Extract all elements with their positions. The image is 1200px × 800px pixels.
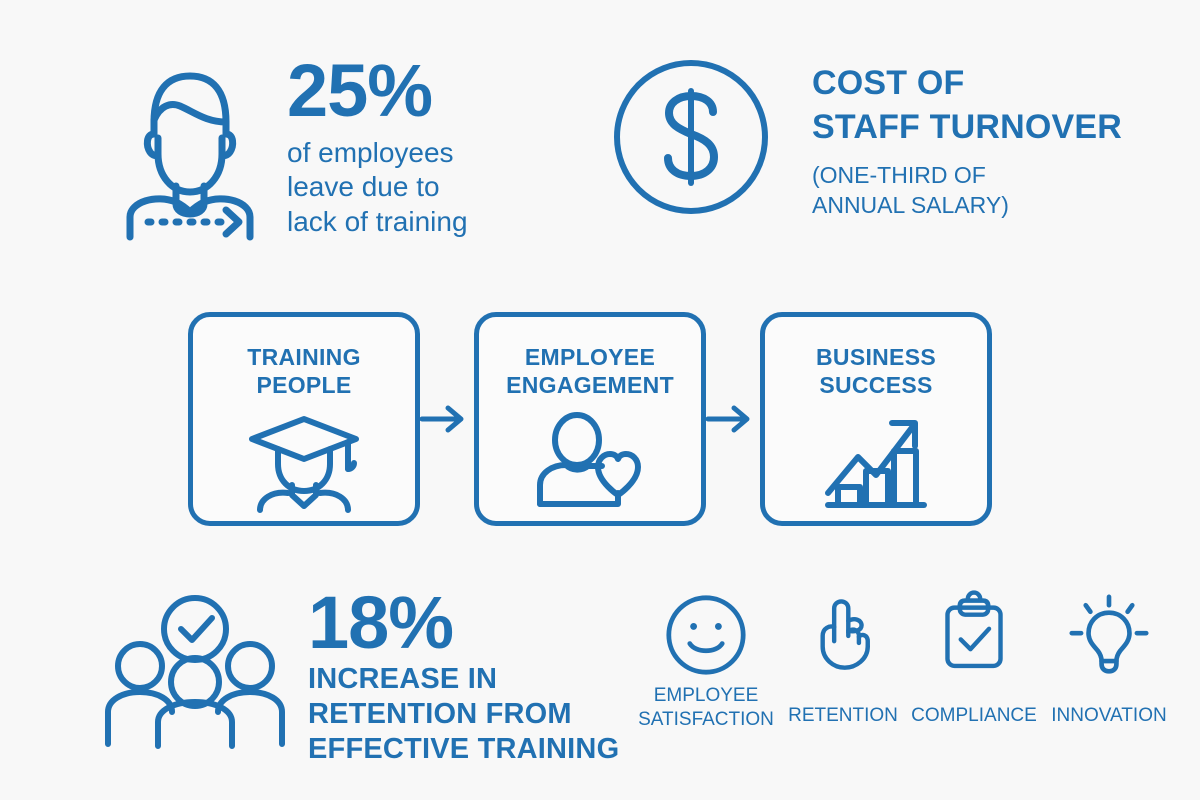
stat-employee-leave-description: of employees leave due to lack of traini… [287, 136, 468, 238]
stat-employee-leave-text: 25% of employees leave due to lack of tr… [287, 56, 468, 239]
flow-step-employee-engagement[interactable]: EMPLOYEE ENGAGEMENT [474, 312, 706, 526]
arrow-right-icon-1 [420, 399, 474, 439]
person-leaving-icon [108, 62, 273, 237]
stat-turnover-cost: COST OF STAFF TURNOVER (ONE-THIRD OF ANN… [612, 52, 1172, 252]
stat-turnover-cost-text: COST OF STAFF TURNOVER (ONE-THIRD OF ANN… [812, 52, 1122, 221]
benefit-compliance-label: COMPLIANCE [911, 704, 1037, 728]
benefit-employee-satisfaction[interactable]: EMPLOYEE SATISFACTION [630, 592, 782, 732]
flow-row: TRAINING PEOPLE [188, 310, 1012, 528]
hand-pointing-up-icon [800, 592, 886, 678]
smiley-face-icon [663, 592, 749, 678]
stat-turnover-cost-subline: (ONE-THIRD OF ANNUAL SALARY) [812, 161, 1122, 221]
stat-employee-leave-number: 25% [287, 56, 468, 126]
benefit-innovation-label: INNOVATION [1051, 704, 1166, 728]
flow-step-training-people[interactable]: TRAINING PEOPLE [188, 312, 420, 526]
people-group-check-icon [100, 594, 290, 749]
benefit-compliance[interactable]: COMPLIANCE [904, 592, 1044, 728]
dollar-circle-icon [612, 58, 770, 216]
graduation-cap-icon [244, 409, 364, 514]
flow-step-employee-engagement-title: EMPLOYEE ENGAGEMENT [506, 343, 674, 399]
person-heart-icon [530, 409, 650, 514]
benefit-retention-label: RETENTION [788, 704, 898, 728]
flow-step-business-success[interactable]: BUSINESS SUCCESS [760, 312, 992, 526]
lightbulb-icon [1066, 592, 1152, 678]
benefit-employee-satisfaction-label: EMPLOYEE SATISFACTION [638, 684, 774, 732]
flow-step-training-people-title: TRAINING PEOPLE [247, 343, 361, 399]
benefit-retention[interactable]: RETENTION [782, 592, 904, 728]
stat-employee-leave: 25% of employees leave due to lack of tr… [108, 56, 538, 276]
flow-step-business-success-title: BUSINESS SUCCESS [816, 343, 936, 399]
growth-chart-icon [816, 409, 936, 514]
stat-turnover-cost-headline: COST OF STAFF TURNOVER [812, 62, 1122, 149]
stat-retention-increase-number: 18% [308, 588, 619, 658]
stat-retention-increase: 18% INCREASE IN RETENTION FROM EFFECTIVE… [100, 588, 620, 778]
stat-retention-increase-description: INCREASE IN RETENTION FROM EFFECTIVE TRA… [308, 662, 619, 766]
infographic-canvas: 25% of employees leave due to lack of tr… [0, 0, 1200, 800]
stat-retention-increase-text: 18% INCREASE IN RETENTION FROM EFFECTIVE… [308, 588, 619, 767]
benefit-innovation[interactable]: INNOVATION [1044, 592, 1174, 728]
arrow-right-icon-2 [706, 399, 760, 439]
clipboard-check-icon [931, 592, 1017, 678]
benefit-icon-row: EMPLOYEE SATISFACTION RETENTION [630, 592, 1182, 742]
